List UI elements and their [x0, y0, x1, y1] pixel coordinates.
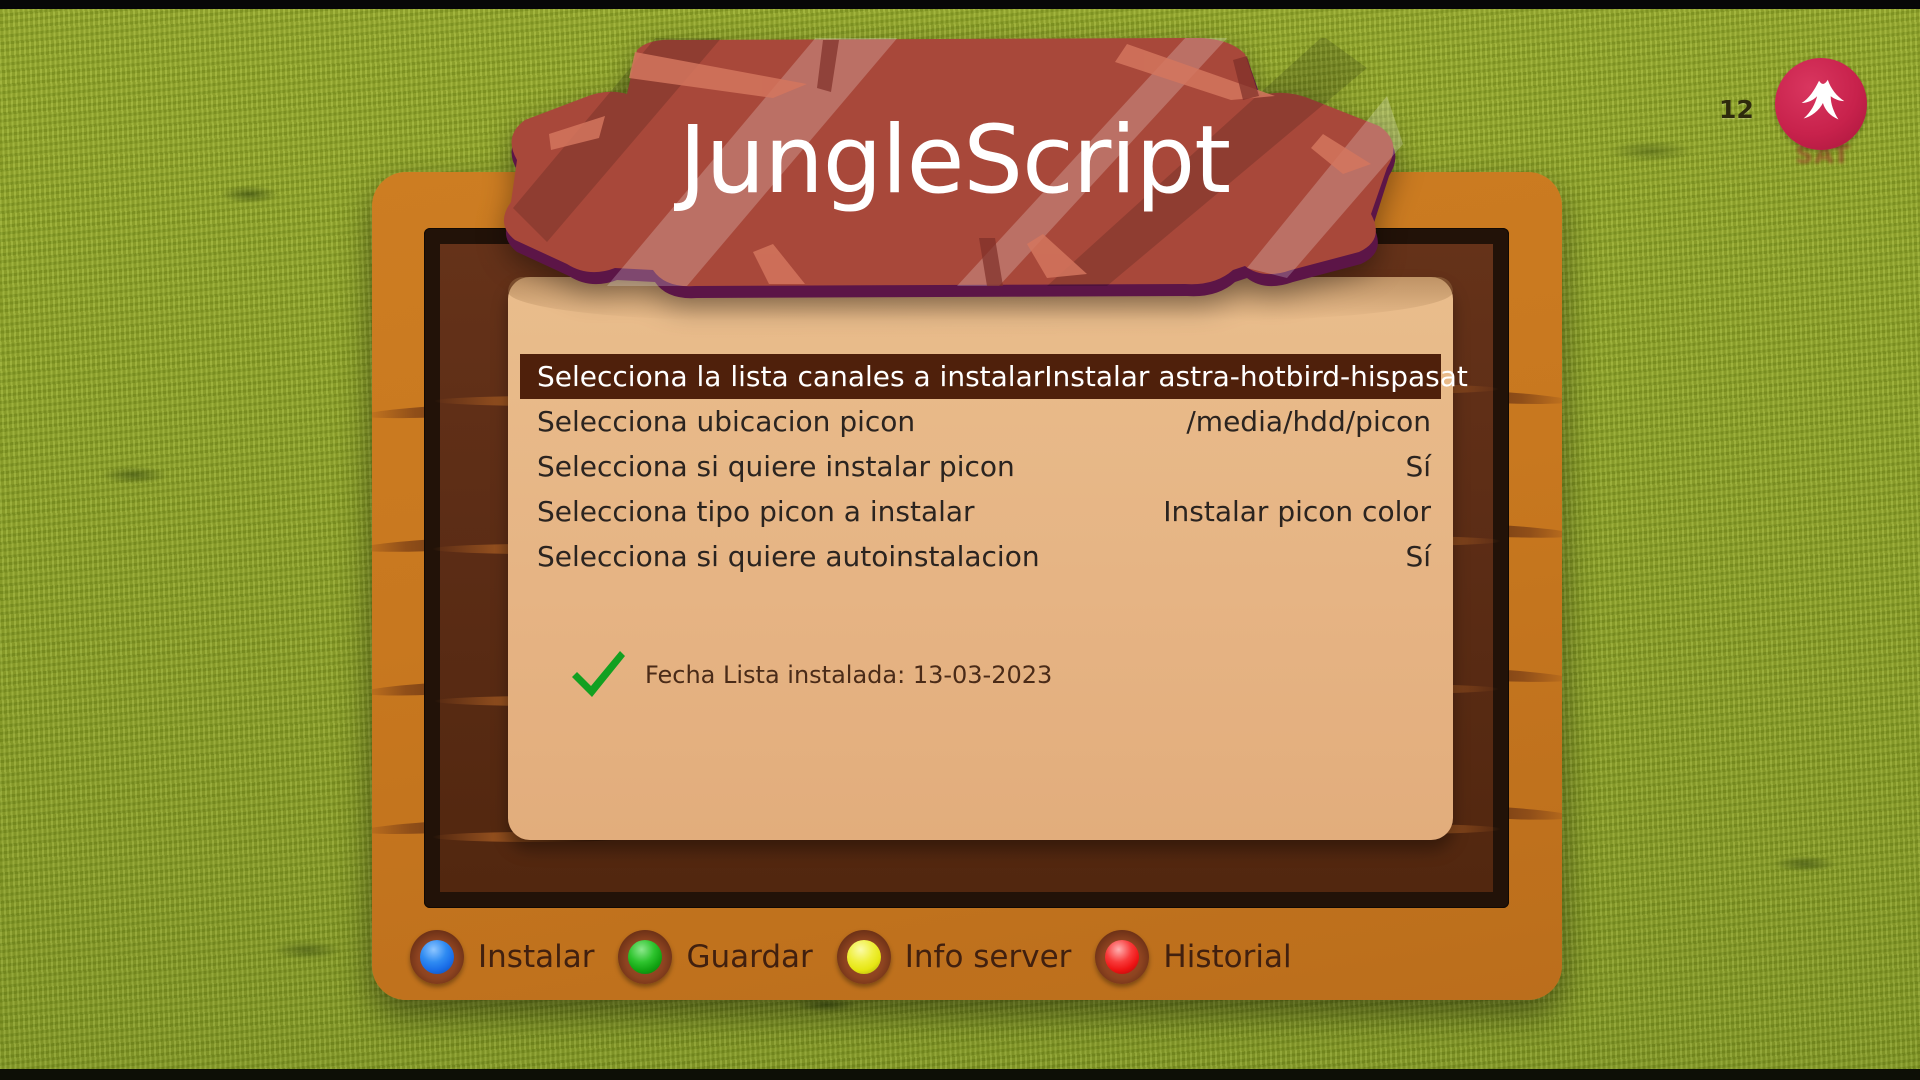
page-title: JungleScript: [487, 38, 1422, 300]
channel-number: 12: [1719, 95, 1754, 124]
settings-list[interactable]: Selecciona la lista canales a instalar I…: [520, 354, 1441, 579]
setting-row-install-picon[interactable]: Selecciona si quiere instalar picon Sí: [520, 444, 1441, 489]
red-button-icon: [1095, 930, 1149, 984]
green-check-icon: [568, 647, 628, 703]
content-panel: Selecciona la lista canales a instalar I…: [508, 277, 1453, 840]
setting-value: /media/hdd/picon: [1186, 405, 1431, 438]
setting-label: Selecciona ubicacion picon: [537, 405, 915, 438]
title-plaque: JungleScript: [487, 38, 1422, 300]
setting-row-channel-list[interactable]: Selecciona la lista canales a instalar I…: [520, 354, 1441, 399]
setting-value: Sí: [1405, 450, 1431, 483]
setting-label: Selecciona si quiere instalar picon: [537, 450, 1015, 483]
button-guardar[interactable]: Guardar: [618, 930, 826, 984]
green-button-icon: [618, 930, 672, 984]
setting-label: Selecciona la lista canales a instalar: [537, 360, 1044, 393]
blue-button-icon: [410, 930, 464, 984]
button-label: Guardar: [686, 939, 812, 975]
button-historial[interactable]: Historial: [1095, 930, 1305, 984]
button-info-server[interactable]: Info server: [837, 930, 1086, 984]
status-text: Fecha Lista instalada: 13-03-2023: [645, 661, 1052, 689]
letterbox-bar-top: [0, 0, 1920, 9]
setting-value: Instalar picon color: [1163, 495, 1431, 528]
bird-logo-icon: [1790, 73, 1852, 135]
setting-row-picon-type[interactable]: Selecciona tipo picon a instalar Instala…: [520, 489, 1441, 534]
setting-label: Selecciona tipo picon a instalar: [537, 495, 975, 528]
button-instalar[interactable]: Instalar: [410, 930, 608, 984]
button-label: Historial: [1163, 939, 1291, 975]
setting-row-autoinstall[interactable]: Selecciona si quiere autoinstalacion Sí: [520, 534, 1441, 579]
yellow-button-icon: [837, 930, 891, 984]
button-label: Instalar: [478, 939, 594, 975]
setting-label: Selecciona si quiere autoinstalacion: [537, 540, 1040, 573]
broadcaster-logo: [1775, 58, 1867, 150]
setting-row-picon-location[interactable]: Selecciona ubicacion picon /media/hdd/pi…: [520, 399, 1441, 444]
status-line: Fecha Lista instalada: 13-03-2023: [568, 647, 1052, 703]
setting-value: Sí: [1405, 540, 1431, 573]
letterbox-bar-bottom: [0, 1069, 1920, 1080]
setting-value: Instalar astra-hotbird-hispasat: [1044, 360, 1468, 393]
button-label: Info server: [905, 939, 1072, 975]
button-bar[interactable]: Instalar Guardar Info server Historial: [410, 930, 1306, 984]
